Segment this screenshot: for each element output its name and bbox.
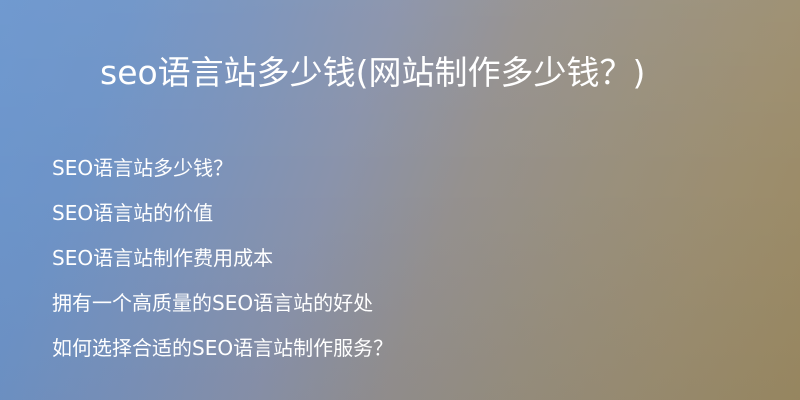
list-item: SEO语言站的价值 bbox=[52, 191, 752, 236]
page-canvas: seo语言站多少钱(网站制作多少钱？) SEO语言站多少钱？ SEO语言站的价值… bbox=[0, 0, 800, 400]
list-item: 拥有一个高质量的SEO语言站的好处 bbox=[52, 281, 752, 326]
content-container: seo语言站多少钱(网站制作多少钱？) SEO语言站多少钱？ SEO语言站的价值… bbox=[0, 0, 800, 400]
list-item: 如何选择合适的SEO语言站制作服务？ bbox=[52, 326, 752, 371]
list-item: SEO语言站多少钱？ bbox=[52, 146, 752, 191]
article-outline-list: SEO语言站多少钱？ SEO语言站的价值 SEO语言站制作费用成本 拥有一个高质… bbox=[52, 146, 752, 371]
page-title: seo语言站多少钱(网站制作多少钱？) bbox=[100, 44, 700, 101]
list-item: SEO语言站制作费用成本 bbox=[52, 236, 752, 281]
